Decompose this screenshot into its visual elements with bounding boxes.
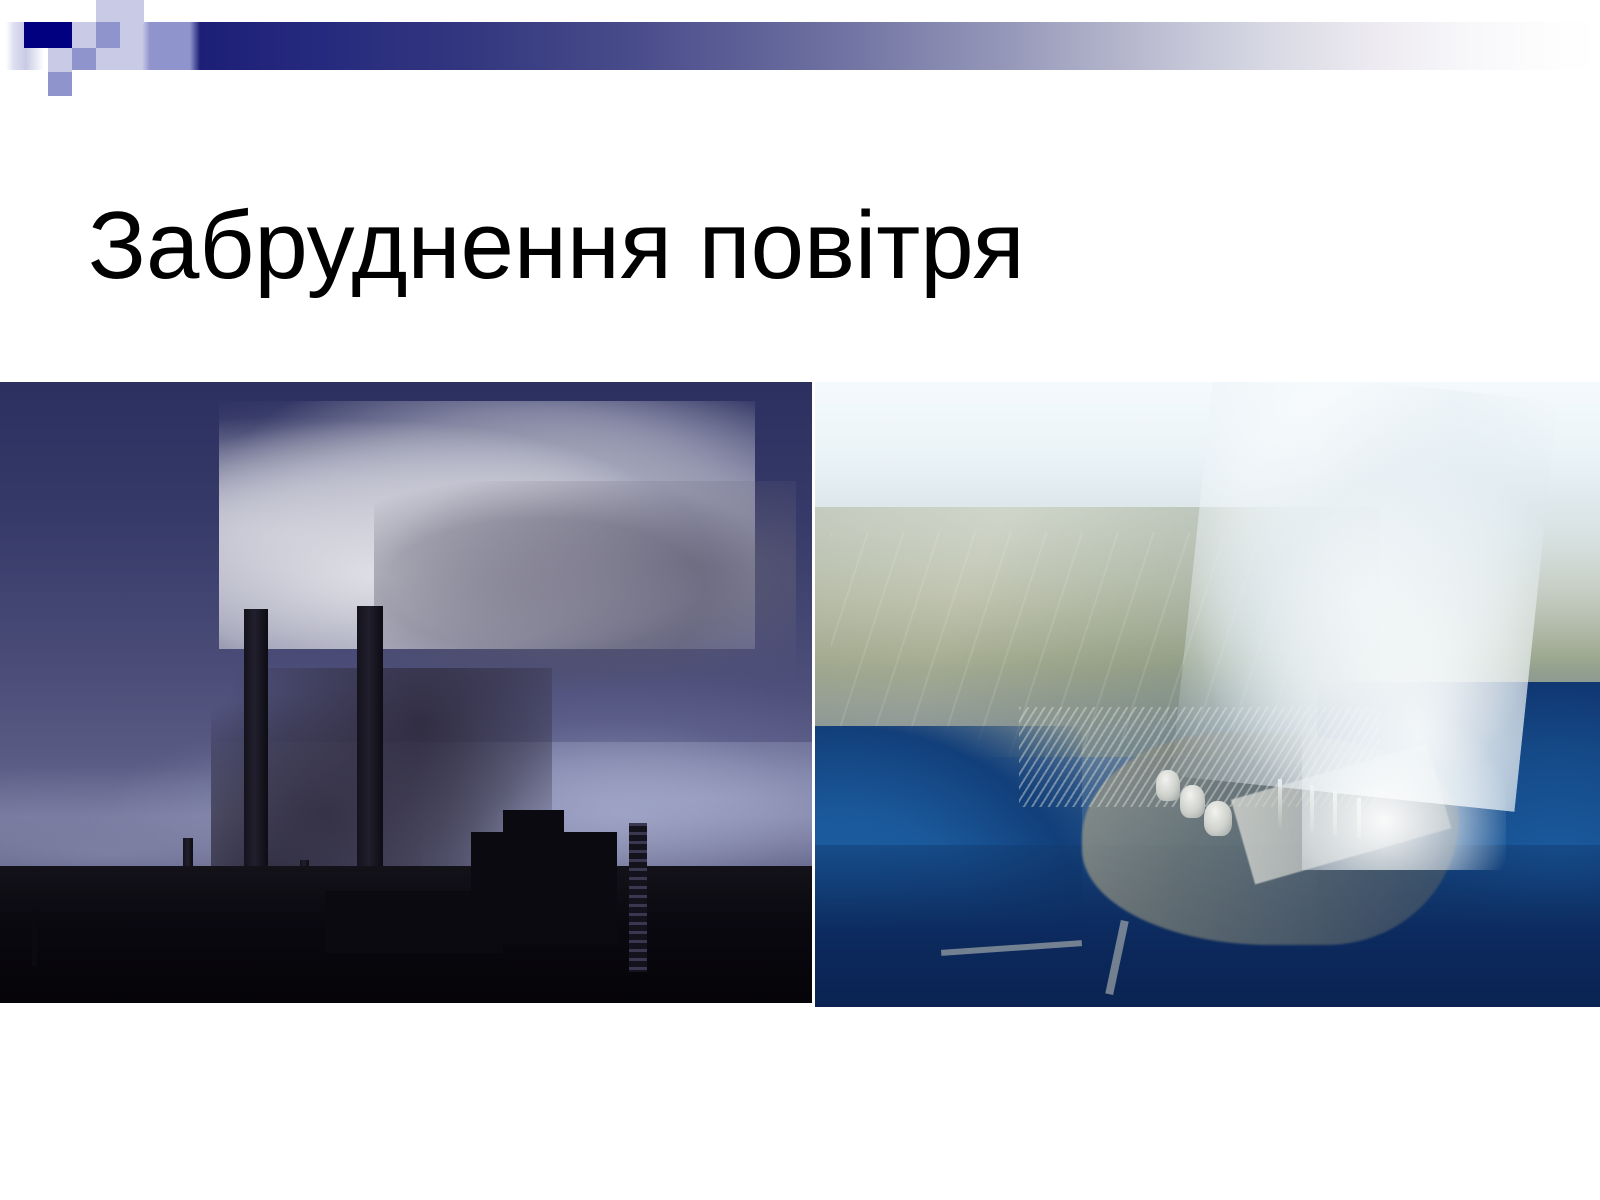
photo-aerial-power-plant bbox=[815, 382, 1600, 1007]
lattice-tower bbox=[629, 823, 647, 972]
square-mid-1 bbox=[96, 22, 120, 48]
square-mid-2 bbox=[72, 48, 96, 70]
factory-roofline bbox=[325, 891, 504, 953]
factory-building-top bbox=[503, 810, 564, 841]
cooling-tower-3 bbox=[1204, 801, 1232, 836]
header-gradient-bar bbox=[0, 22, 1600, 70]
grey-smoke-plume bbox=[374, 481, 796, 692]
bare-tree bbox=[32, 910, 37, 966]
square-mid-3 bbox=[48, 72, 72, 96]
square-dark-navy bbox=[24, 22, 72, 48]
square-light-3 bbox=[48, 48, 72, 72]
square-light-2 bbox=[72, 22, 96, 48]
steam-plume-tail bbox=[1302, 707, 1506, 870]
photo-row bbox=[0, 382, 1600, 1008]
cooling-tower-2 bbox=[1180, 785, 1205, 818]
decorative-header-band bbox=[0, 0, 1600, 110]
square-light-1 bbox=[96, 0, 144, 24]
page-title: Забруднення повітря bbox=[88, 192, 1508, 300]
photo-smokestacks bbox=[0, 382, 812, 1003]
